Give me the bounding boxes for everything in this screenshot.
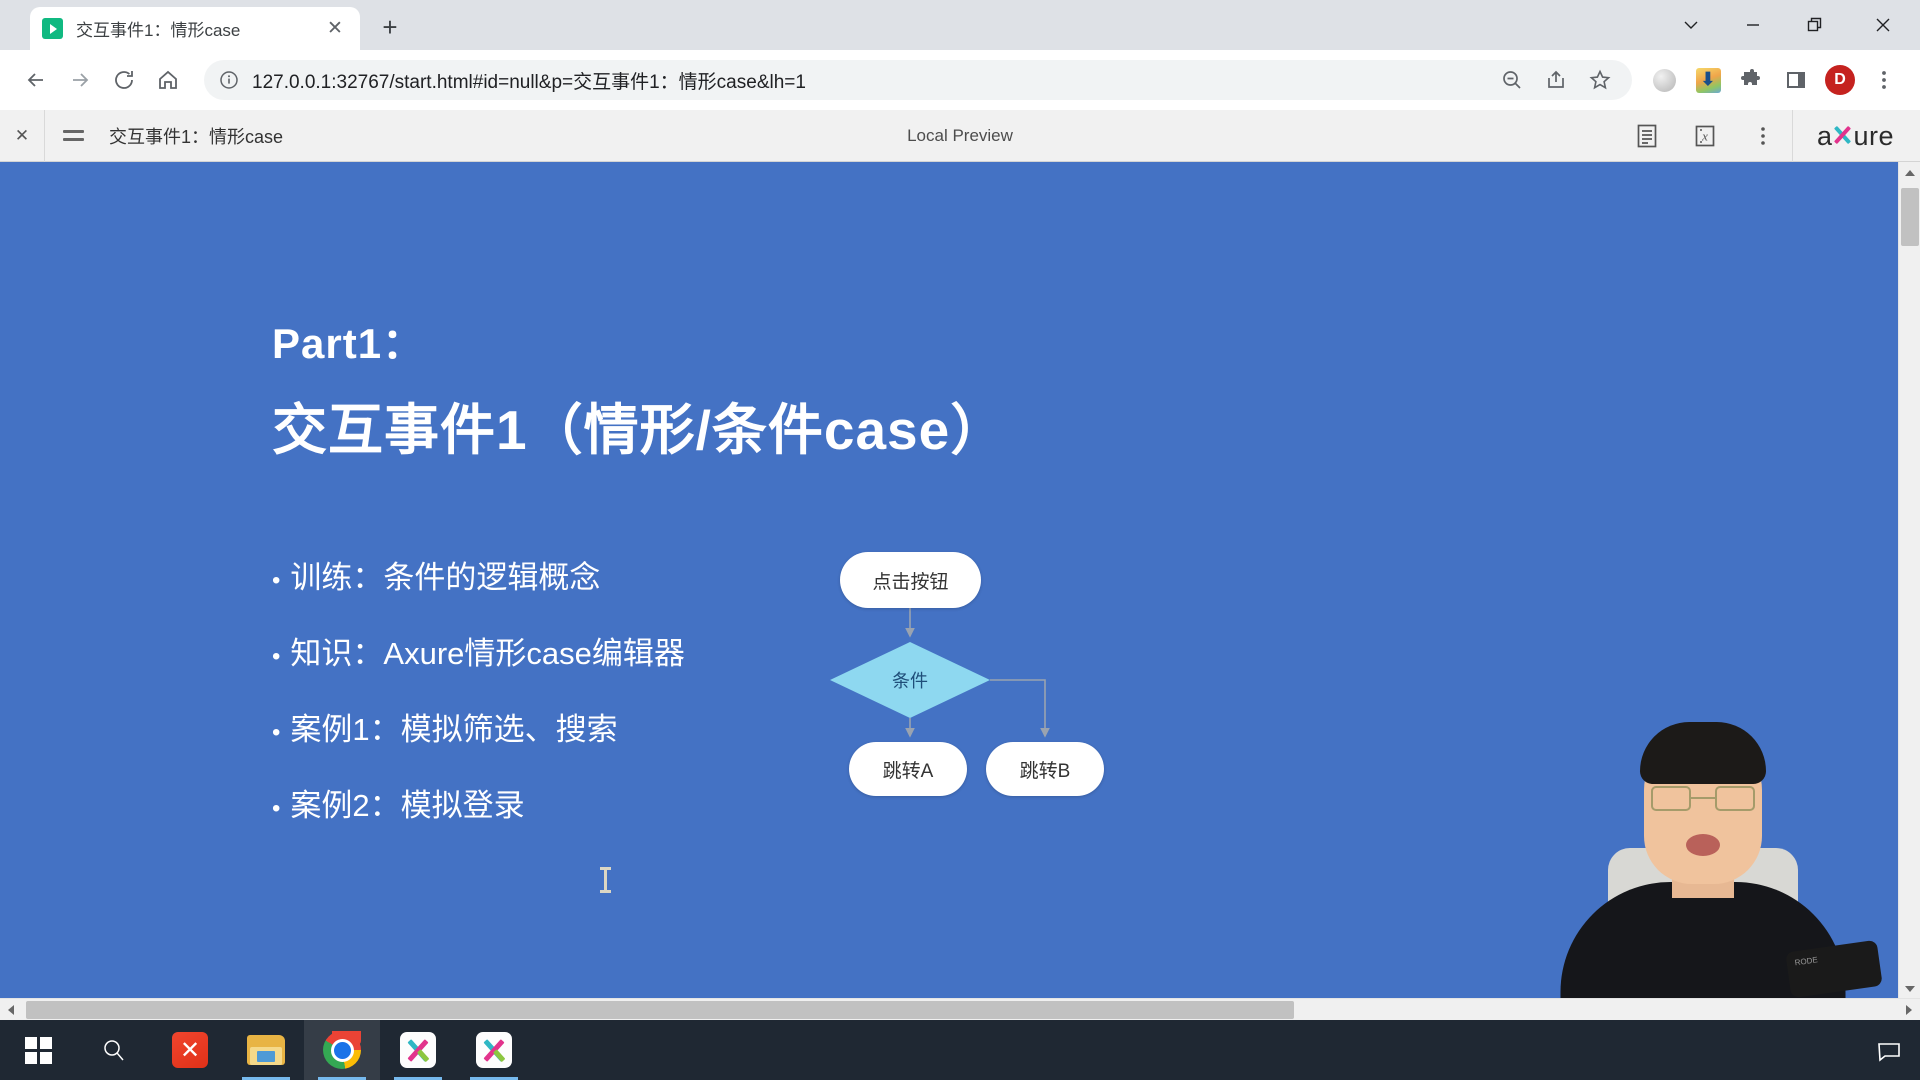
share-icon[interactable]: [1534, 58, 1578, 102]
flow-node-branch-a[interactable]: 跳转A: [849, 742, 967, 796]
list-item: • 案例1：模拟筛选、搜索: [272, 714, 685, 745]
browser-menu-icon[interactable]: [1862, 58, 1906, 102]
axure-preview-bar: ✕ 交互事件1：情形case Local Preview x: [0, 110, 1920, 162]
chrome-app[interactable]: [304, 1020, 380, 1080]
axure-page-title: 交互事件1：情形case: [109, 123, 283, 149]
horizontal-scrollbar-thumb[interactable]: [26, 1001, 1294, 1019]
flow-node-decision-label: 条件: [830, 642, 990, 718]
heading-line-2: 交互事件1（情形/条件case）: [272, 385, 1006, 465]
xmind-icon: ✕: [172, 1032, 208, 1068]
avatar-initial: D: [1825, 65, 1855, 95]
axure-logo: a ure: [1792, 110, 1920, 162]
star-icon[interactable]: [1578, 58, 1622, 102]
list-item: • 案例2：模拟登录: [272, 790, 685, 821]
forward-icon[interactable]: [58, 58, 102, 102]
list-item: • 知识：Axure情形case编辑器: [272, 638, 685, 669]
side-panel-icon[interactable]: [1774, 58, 1818, 102]
zoom-out-icon[interactable]: [1490, 58, 1534, 102]
presenter-video-overlay: RODE: [1508, 698, 1898, 998]
back-icon[interactable]: [14, 58, 58, 102]
window-controls: [1660, 0, 1920, 50]
presenter-mouth: [1686, 834, 1720, 856]
bullet-marker: •: [272, 569, 280, 593]
list-item-label: 案例2：模拟登录: [290, 790, 524, 821]
axure-logo-x-icon: [1833, 124, 1852, 145]
download-manager-extension-icon[interactable]: ⬇: [1686, 58, 1730, 102]
variables-panel-icon[interactable]: x: [1676, 110, 1734, 162]
minimize-button[interactable]: [1722, 0, 1784, 50]
search-button[interactable]: [76, 1020, 152, 1080]
video-play-favicon-icon: [42, 18, 63, 39]
heading-line-1: Part1：: [272, 310, 1006, 371]
toolbar-extensions: ⬇ D: [1642, 58, 1906, 102]
chrome-icon: [323, 1031, 361, 1069]
more-options-icon[interactable]: [1734, 110, 1792, 162]
page-title: Part1： 交互事件1（情形/条件case）: [272, 310, 1006, 465]
file-explorer-app[interactable]: [228, 1020, 304, 1080]
list-item-label: 案例1：模拟筛选、搜索: [290, 714, 617, 745]
text-cursor: [604, 867, 607, 893]
axure-app-2[interactable]: [456, 1020, 532, 1080]
notifications-icon[interactable]: [1876, 1037, 1902, 1063]
axure-logo-text-after: ure: [1853, 121, 1894, 152]
axure-logo-text-before: a: [1817, 121, 1833, 152]
tab-close-icon[interactable]: ✕: [322, 16, 348, 42]
avatar[interactable]: D: [1818, 58, 1862, 102]
screen: 交互事件1：情形case ✕ +: [0, 0, 1920, 1080]
horizontal-scrollbar[interactable]: [0, 998, 1920, 1020]
presenter-glasses: [1651, 786, 1755, 812]
scroll-down-arrow-icon[interactable]: [1899, 978, 1920, 1000]
list-item-label: 训练：条件的逻辑概念: [290, 562, 600, 593]
hamburger-menu-icon[interactable]: [45, 110, 101, 162]
vertical-scrollbar-thumb[interactable]: [1901, 188, 1919, 246]
new-tab-button[interactable]: +: [370, 7, 410, 47]
xmind-app[interactable]: ✕: [152, 1020, 228, 1080]
close-window-button[interactable]: [1846, 0, 1920, 50]
folder-icon: [247, 1035, 285, 1065]
browser-toolbar: 127.0.0.1:32767/start.html#id=null&p=交互事…: [0, 50, 1920, 110]
info-circle-icon[interactable]: [218, 69, 240, 91]
flow-node-start[interactable]: 点击按钮: [840, 552, 981, 608]
axure-bar-actions: x a ure: [1618, 110, 1920, 162]
vertical-scrollbar[interactable]: [1898, 162, 1920, 1000]
axure-icon: [476, 1032, 512, 1068]
bullet-marker: •: [272, 721, 280, 745]
list-item: • 训练：条件的逻辑概念: [272, 562, 685, 593]
list-item-label: 知识：Axure情形case编辑器: [290, 638, 684, 669]
tab-title: 交互事件1：情形case: [76, 16, 322, 41]
restore-button[interactable]: [1784, 0, 1846, 50]
search-icon: [101, 1037, 127, 1063]
system-tray: [1876, 1020, 1920, 1080]
start-button[interactable]: [0, 1020, 76, 1080]
windows-logo-icon: [25, 1037, 52, 1064]
grey-globe-extension-icon[interactable]: [1642, 58, 1686, 102]
axure-app-1[interactable]: [380, 1020, 456, 1080]
svg-text:x: x: [1701, 129, 1708, 144]
browser-tab[interactable]: 交互事件1：情形case ✕: [30, 7, 360, 50]
presenter-hair: [1640, 722, 1766, 784]
tab-search-icon[interactable]: [1660, 0, 1722, 50]
axure-icon: [400, 1032, 436, 1068]
bullet-marker: •: [272, 645, 280, 669]
scroll-left-arrow-icon[interactable]: [0, 999, 22, 1021]
bullet-marker: •: [272, 797, 280, 821]
scroll-right-arrow-icon[interactable]: [1898, 999, 1920, 1021]
windows-taskbar: ✕: [0, 1020, 1920, 1080]
flow-node-decision[interactable]: 条件: [830, 642, 990, 718]
extensions-puzzle-icon[interactable]: [1730, 58, 1774, 102]
flow-node-branch-b[interactable]: 跳转B: [986, 742, 1104, 796]
url-text: 127.0.0.1:32767/start.html#id=null&p=交互事…: [252, 67, 1490, 94]
scroll-up-arrow-icon[interactable]: [1899, 162, 1920, 184]
home-icon[interactable]: [146, 58, 190, 102]
microphone-brand-label: RODE: [1794, 955, 1818, 967]
address-bar[interactable]: 127.0.0.1:32767/start.html#id=null&p=交互事…: [204, 60, 1632, 100]
reload-icon[interactable]: [102, 58, 146, 102]
bullet-list: • 训练：条件的逻辑概念 • 知识：Axure情形case编辑器 • 案例1：模…: [272, 562, 685, 866]
browser-tab-strip: 交互事件1：情形case ✕ +: [0, 0, 1920, 50]
flowchart: 点击按钮 条件 跳转A 跳转B: [840, 552, 1130, 802]
close-preview-bar-button[interactable]: ✕: [0, 110, 44, 162]
notes-panel-icon[interactable]: [1618, 110, 1676, 162]
